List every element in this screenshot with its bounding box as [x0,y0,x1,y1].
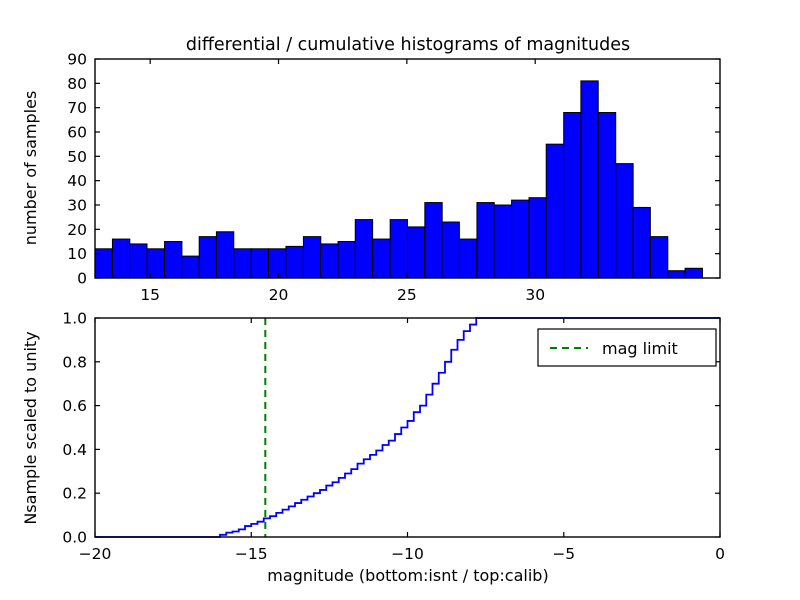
histogram-bars [95,81,702,278]
bottom-panel-ytick-label: 1.0 [62,310,87,328]
legend[interactable]: mag limit [538,329,716,366]
bottom-panel-ytick-label: 0.8 [62,353,87,371]
histogram-bar [373,239,390,278]
histogram-bar [130,244,147,278]
histogram-bar [442,222,459,278]
histogram-bar [182,256,199,278]
bottom-panel: 0.00.20.40.60.81.0 −20−15−10−50 Nsample … [21,310,725,586]
top-panel-xtick-label: 20 [269,286,289,304]
bottom-panel-ytick-label: 0.2 [62,485,87,503]
top-panel-ytick-label: 10 [67,245,87,263]
histogram-bar [234,249,251,278]
histogram-bar [199,237,216,278]
histogram-bar [633,207,650,278]
bottom-panel-xtick-label: −5 [552,545,575,563]
top-panel-ytick-label: 50 [67,148,87,166]
histogram-bar [685,268,702,278]
histogram-bar [390,220,407,278]
histogram-bar [269,249,286,278]
bottom-panel-xtick-label: −15 [235,545,268,563]
histogram-bar [598,113,615,278]
bottom-panel-ylabel: Nsample scaled to unity [21,331,40,524]
histogram-bar [303,237,320,278]
top-panel-ytick-label: 60 [67,124,87,142]
histogram-bar [477,203,494,278]
histogram-bar [165,242,182,279]
histogram-bar [407,227,424,278]
histogram-bar [355,220,372,278]
top-panel-ytick-label: 70 [67,99,87,117]
bottom-panel-ytick-label: 0.4 [62,441,87,459]
top-panel-ytick-label: 90 [67,51,87,69]
histogram-bar [286,246,303,278]
histogram-bar [425,203,442,278]
top-panel: 0102030405060708090 15202530 number of s… [21,51,720,305]
top-panel-ytick-label: 80 [67,75,87,93]
histogram-bar [564,113,581,278]
histogram-bar [546,144,563,278]
histogram-bar [251,249,268,278]
top-panel-ytick-label: 0 [77,270,87,288]
histogram-bar [321,244,338,278]
top-panel-xtick-label: 25 [397,286,417,304]
top-panel-xtick-label: 30 [525,286,545,304]
bottom-panel-xtick-label: −20 [79,545,112,563]
histogram-bar [112,239,129,278]
figure-title: differential / cumulative histograms of … [186,35,630,55]
histogram-bar [581,81,598,278]
bottom-panel-ytick-label: 0.6 [62,397,87,415]
bottom-panel-ytick-label: 0.0 [62,529,87,547]
bottom-panel-xtick-label: 0 [715,545,725,563]
legend-label-mag-limit: mag limit [602,339,678,358]
histogram-bar [529,198,546,278]
histogram-bar [459,239,476,278]
matplotlib-figure: differential / cumulative histograms of … [0,0,800,600]
top-panel-ytick-label: 30 [67,197,87,215]
histogram-bar [216,232,233,278]
xaxis-label: magnitude (bottom:isnt / top:calib) [267,566,548,585]
histogram-bar [494,205,511,278]
bottom-panel-xtick-label: −10 [391,545,424,563]
top-panel-xtick-label: 15 [140,286,160,304]
histogram-bar [338,242,355,279]
histogram-bar [650,237,667,278]
top-panel-ylabel: number of samples [21,91,40,246]
histogram-bar [668,271,685,278]
top-panel-ytick-label: 20 [67,221,87,239]
histogram-bar [512,200,529,278]
top-panel-ytick-label: 40 [67,172,87,190]
histogram-bar [616,164,633,278]
figure-canvas: differential / cumulative histograms of … [0,0,800,600]
